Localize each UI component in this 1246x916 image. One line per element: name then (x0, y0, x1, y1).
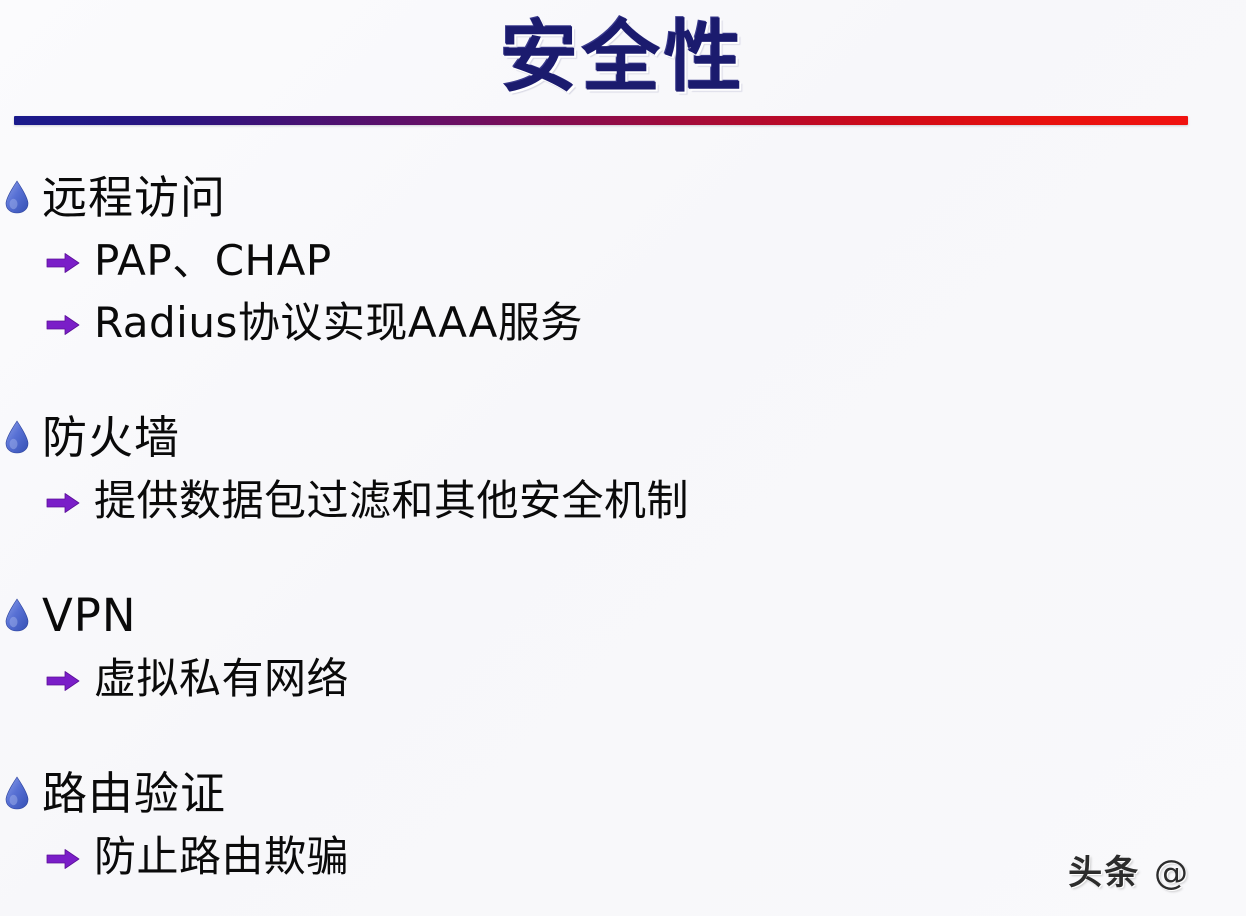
right-arrow-icon (46, 670, 80, 692)
right-arrow-icon (46, 848, 80, 870)
section-heading-row: 路由验证 (0, 766, 1246, 828)
section-spacer (0, 356, 1246, 410)
water-drop-icon (4, 598, 30, 638)
water-drop-icon (4, 776, 30, 816)
water-drop-icon (4, 420, 30, 460)
section-route-auth: 路由验证 防止路由欺骗 (0, 766, 1246, 890)
section-heading-label: 远程访问 (42, 170, 226, 226)
watermark-text: 头条 (1068, 853, 1140, 893)
section-heading-label: VPN (42, 588, 137, 644)
bullet-item-label: 提供数据包过滤和其他安全机制 (94, 472, 689, 530)
section-heading-label: 防火墙 (42, 410, 180, 466)
title-area: 安全性 (0, 10, 1246, 106)
slide-canvas: 安全性 (0, 0, 1246, 916)
bullet-item-label: 防止路由欺骗 (94, 828, 349, 886)
water-drop-icon (4, 180, 30, 220)
section-vpn: VPN 虚拟私有网络 (0, 588, 1246, 712)
section-heading-row: 防火墙 (0, 410, 1246, 472)
right-arrow-icon (46, 492, 80, 514)
title-divider (14, 116, 1188, 125)
content-area: 远程访问 PAP、CHAP Radius协议实现AAA服务 (0, 170, 1246, 890)
bullet-item: 虚拟私有网络 (0, 650, 1246, 712)
bullet-item: 防止路由欺骗 (0, 828, 1246, 890)
section-heading-row: 远程访问 (0, 170, 1246, 232)
watermark-at-icon: @ (1154, 853, 1190, 893)
section-heading-label: 路由验证 (42, 766, 226, 822)
watermark: 头条 @ (1068, 845, 1190, 894)
bullet-item: 提供数据包过滤和其他安全机制 (0, 472, 1246, 534)
section-heading-row: VPN (0, 588, 1246, 650)
right-arrow-icon (46, 252, 80, 274)
section-spacer (0, 534, 1246, 588)
bullet-item-label: PAP、CHAP (94, 232, 332, 290)
bullet-item-label: Radius协议实现AAA服务 (94, 294, 583, 352)
section-firewall: 防火墙 提供数据包过滤和其他安全机制 (0, 410, 1246, 534)
bullet-item: PAP、CHAP (0, 232, 1246, 294)
section-remote-access: 远程访问 PAP、CHAP Radius协议实现AAA服务 (0, 170, 1246, 356)
right-arrow-icon (46, 314, 80, 336)
bullet-item-label: 虚拟私有网络 (94, 650, 349, 708)
bullet-item: Radius协议实现AAA服务 (0, 294, 1246, 356)
page-title: 安全性 (500, 19, 746, 97)
section-spacer (0, 712, 1246, 766)
